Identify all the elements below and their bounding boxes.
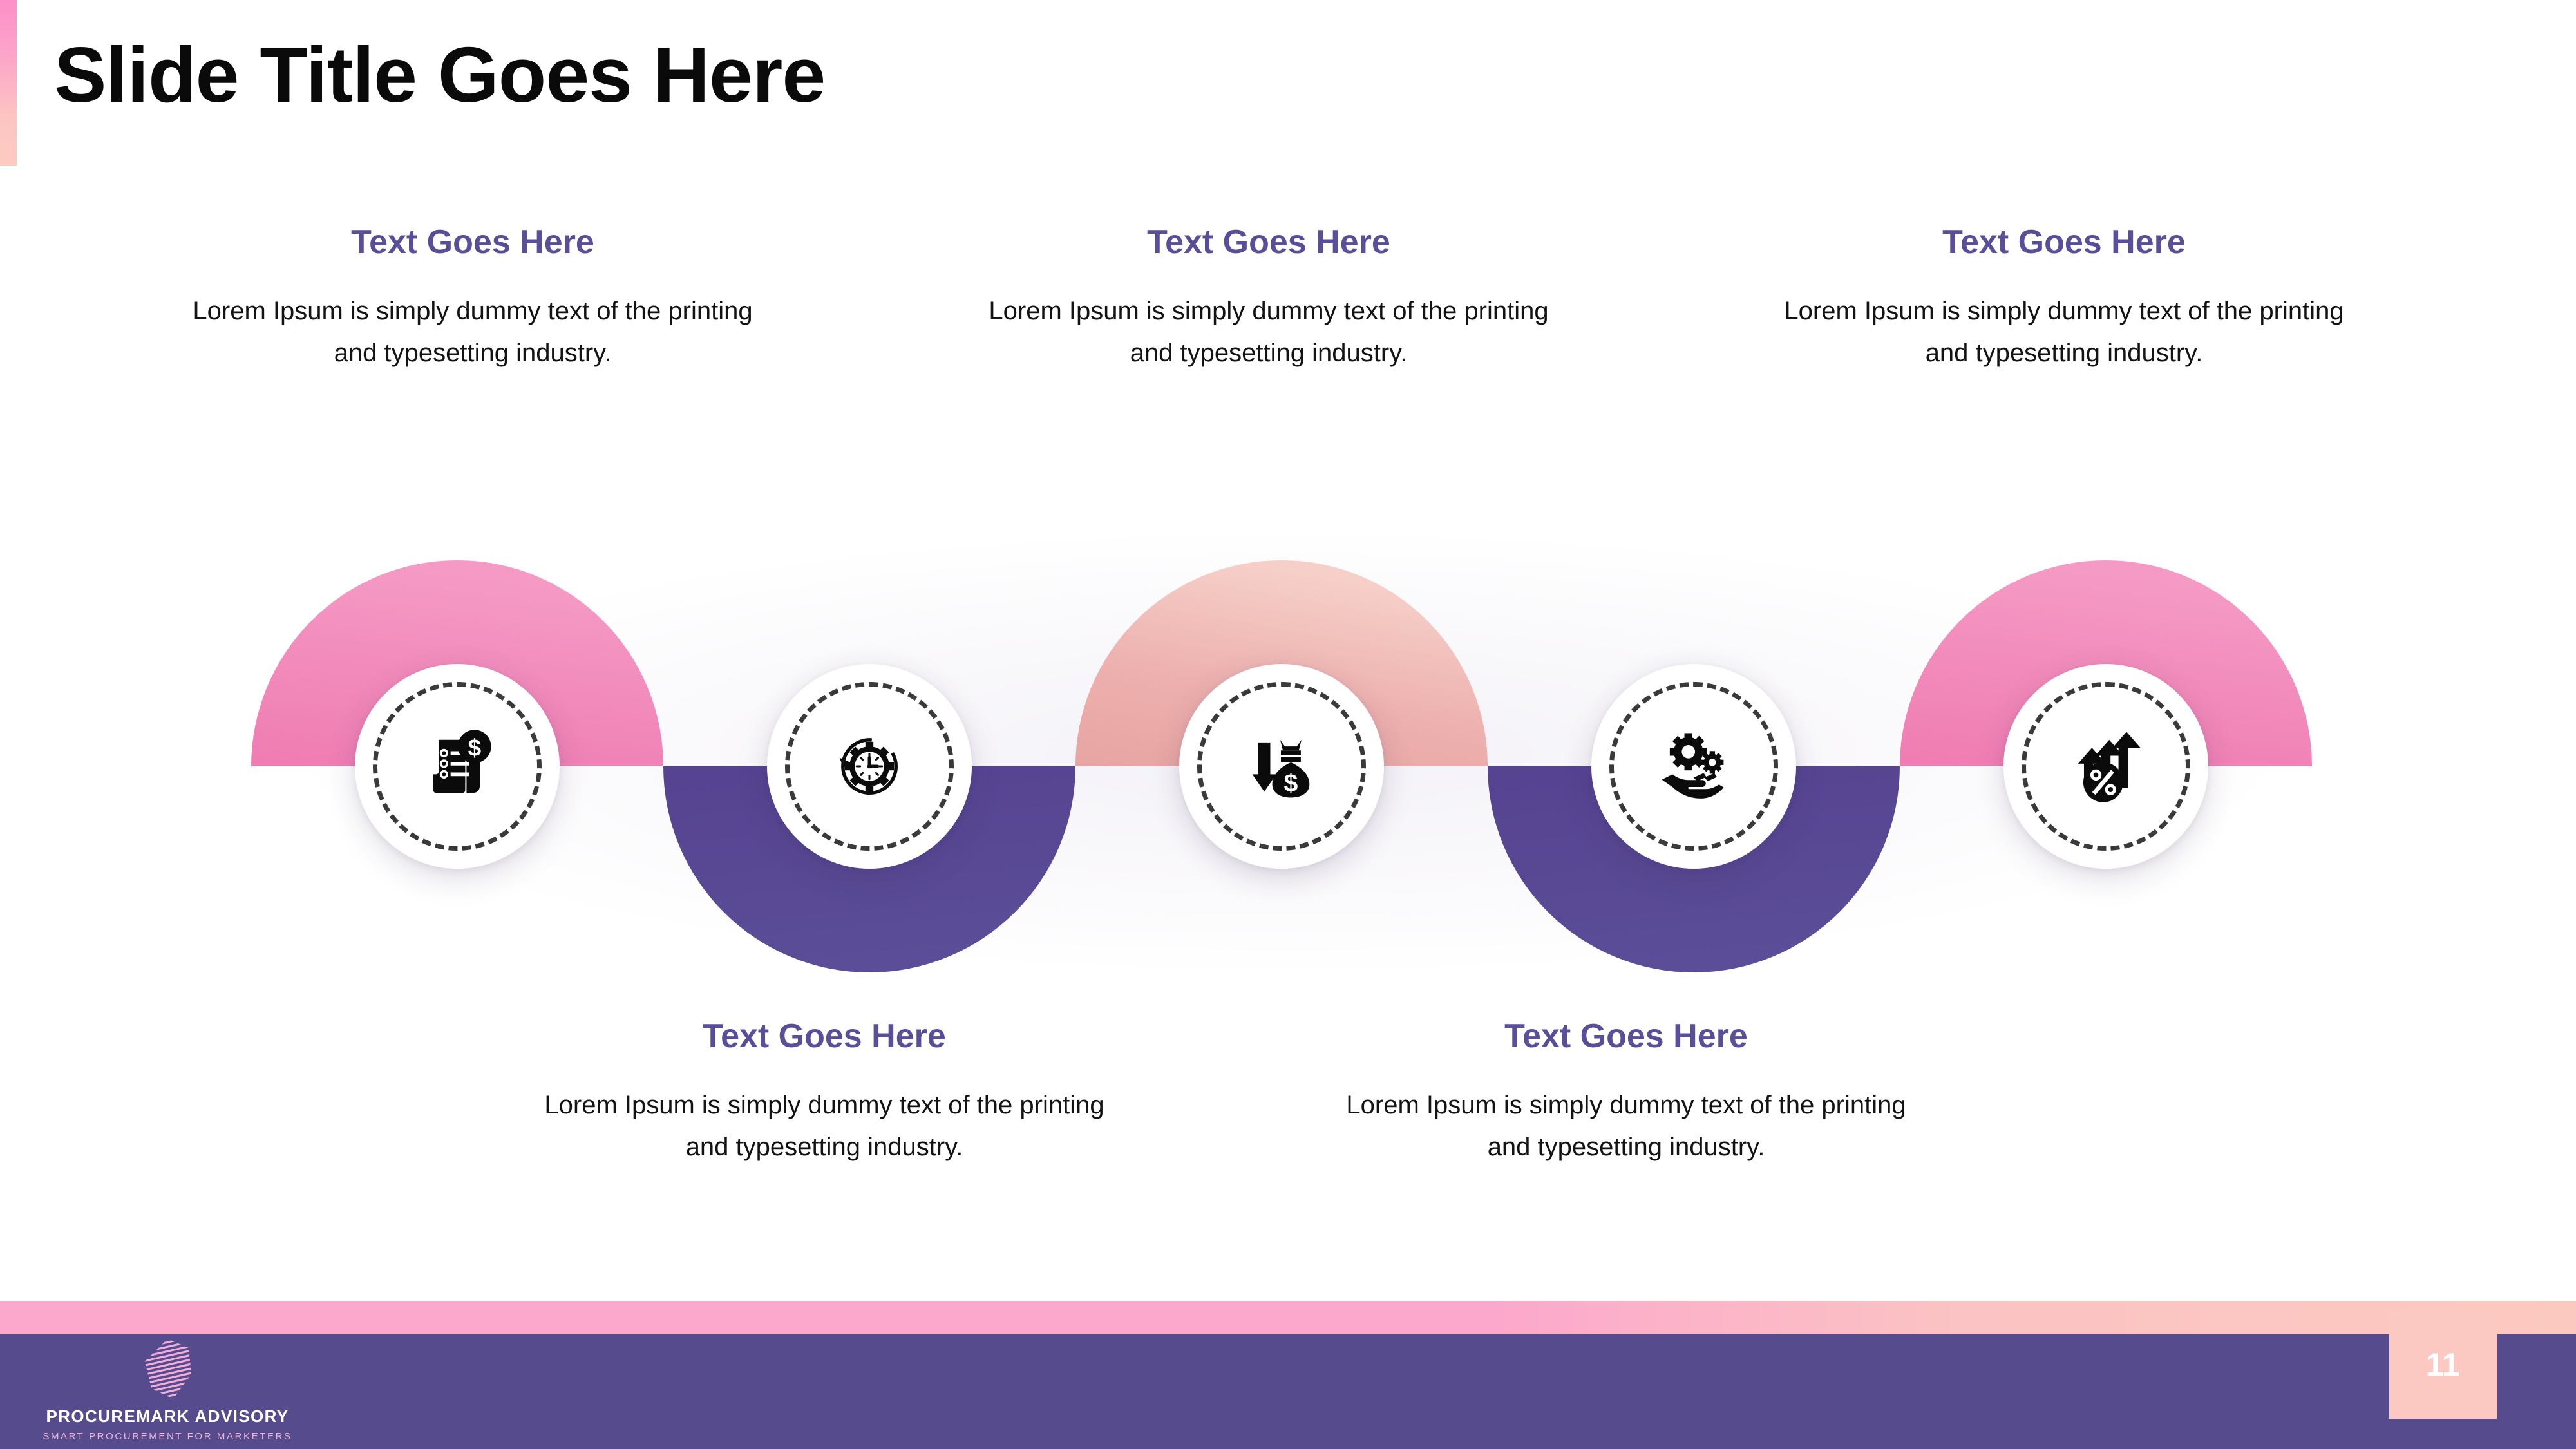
page-title: Slide Title Goes Here — [54, 33, 825, 116]
svg-text:$: $ — [1284, 770, 1298, 797]
bottom-column-2-heading: Text Goes Here — [1336, 1016, 1916, 1056]
brand-name: PROCUREMARK ADVISORY — [46, 1408, 289, 1425]
step-icon-1[interactable]: $ — [355, 664, 560, 869]
procuremark-logo-icon — [140, 1337, 195, 1401]
top-column-1-heading: Text Goes Here — [183, 222, 762, 262]
bottom-column-2-body: Lorem Ipsum is simply dummy text of the … — [1336, 1084, 1916, 1168]
svg-text:$: $ — [468, 734, 481, 761]
hand-gears-icon — [1651, 724, 1736, 809]
invoice-dollar-icon: $ — [415, 724, 500, 809]
top-column-1-body: Lorem Ipsum is simply dummy text of the … — [183, 290, 762, 374]
bottom-column-1-body: Lorem Ipsum is simply dummy text of the … — [535, 1084, 1114, 1168]
top-column-3-heading: Text Goes Here — [1774, 222, 2354, 262]
top-column-2-heading: Text Goes Here — [979, 222, 1558, 262]
footer-bar — [0, 1334, 2576, 1449]
footer-accent-strip — [0, 1301, 2576, 1334]
clock-gear-refresh-icon — [827, 724, 912, 809]
step-icon-2[interactable] — [767, 664, 972, 869]
bottom-column-1: Text Goes Here Lorem Ipsum is simply dum… — [535, 1016, 1114, 1168]
bottom-column-1-heading: Text Goes Here — [535, 1016, 1114, 1056]
arrows-up-percent-icon — [2063, 724, 2148, 809]
top-column-2-body: Lorem Ipsum is simply dummy text of the … — [979, 290, 1558, 374]
top-column-1: Text Goes Here Lorem Ipsum is simply dum… — [183, 222, 762, 374]
left-accent-bar — [0, 0, 17, 166]
money-bag-down-arrow-icon: $ — [1239, 724, 1324, 809]
brand-tagline: SMART PROCUREMENT FOR MARKETERS — [43, 1432, 292, 1441]
step-icon-4[interactable] — [1591, 664, 1796, 869]
top-column-2: Text Goes Here Lorem Ipsum is simply dum… — [979, 222, 1558, 374]
slide-canvas: Slide Title Goes Here Text Goes Here Lor… — [0, 0, 2576, 1449]
bottom-column-2: Text Goes Here Lorem Ipsum is simply dum… — [1336, 1016, 1916, 1168]
step-icon-5[interactable] — [2003, 664, 2208, 869]
top-column-3: Text Goes Here Lorem Ipsum is simply dum… — [1774, 222, 2354, 374]
page-number-badge: 11 — [2389, 1311, 2497, 1419]
step-icon-3[interactable]: $ — [1179, 664, 1384, 869]
brand-block: PROCUREMARK ADVISORY SMART PROCUREMENT F… — [32, 1337, 303, 1441]
top-column-3-body: Lorem Ipsum is simply dummy text of the … — [1774, 290, 2354, 374]
page-number-value: 11 — [2426, 1349, 2460, 1381]
